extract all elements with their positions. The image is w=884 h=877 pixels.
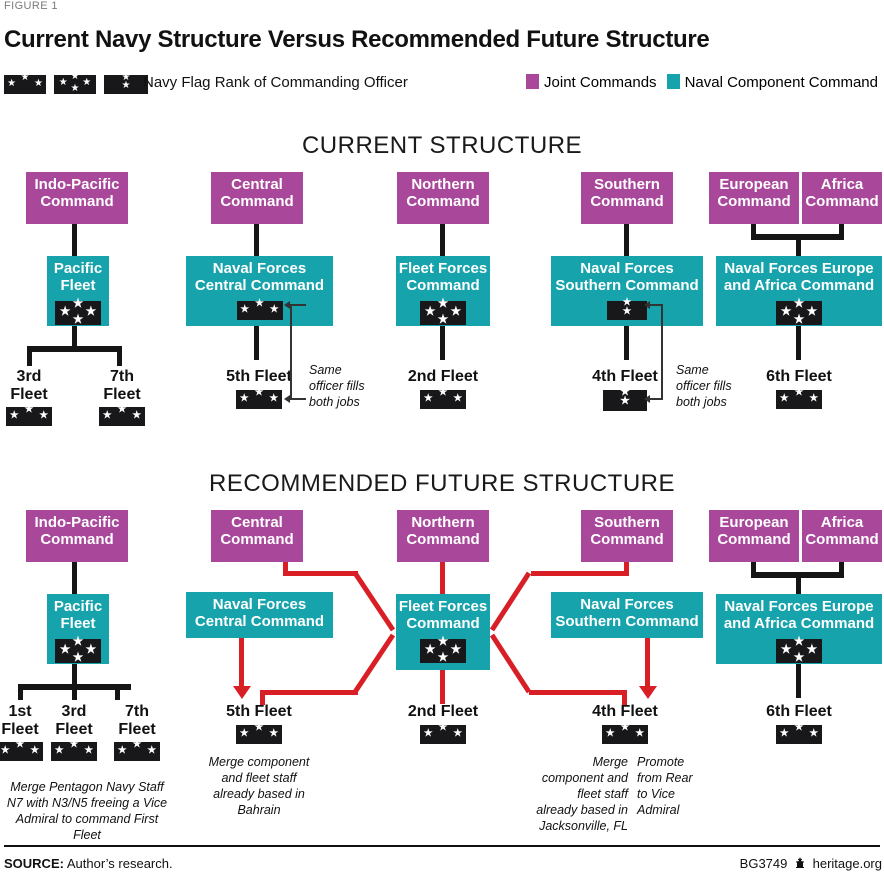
star-glyph: ★ bbox=[240, 305, 250, 315]
box-label-line2: Fleet bbox=[60, 278, 95, 295]
box-rank-badge-4-star: ★★★★ bbox=[776, 301, 822, 325]
star-glyph: ★ bbox=[424, 643, 436, 655]
star-glyph: ★ bbox=[450, 643, 462, 655]
fleet-label: 5th Fleet bbox=[215, 703, 303, 721]
star-glyph: ★ bbox=[793, 297, 805, 309]
star-glyph: ★ bbox=[779, 729, 789, 739]
star-glyph: ★ bbox=[424, 305, 436, 317]
box-label-line2: Command bbox=[406, 278, 479, 295]
future-joint-european[interactable]: EuropeanCommand bbox=[709, 510, 799, 562]
box-label-line2: Command bbox=[40, 194, 113, 211]
star-glyph: ★ bbox=[30, 746, 40, 756]
fleet-label-line2: Fleet bbox=[113, 721, 161, 739]
same-officer-bracket-2-bottom bbox=[648, 398, 663, 400]
current-naval-pacific-fleet[interactable]: PacificFleet★★★★ bbox=[47, 256, 109, 326]
legend: ★★★ ★★★★ ★★ Navy Flag Rank of Commanding… bbox=[4, 74, 880, 98]
star-glyph: ★ bbox=[7, 79, 17, 89]
star-glyph: ★ bbox=[70, 72, 80, 82]
current-structure-heading: CURRENT STRUCTURE bbox=[0, 132, 884, 160]
star-glyph: ★ bbox=[72, 651, 84, 663]
badge-3-star: ★★★ bbox=[4, 75, 46, 94]
fleet-rank-badge-3-star: ★★★ bbox=[99, 407, 145, 426]
current-joint-southern[interactable]: SouthernCommand bbox=[581, 172, 673, 224]
star-glyph: ★ bbox=[438, 388, 448, 398]
box-label-line1: Fleet Forces bbox=[399, 256, 487, 278]
fleet-badge-holder: ★★★ bbox=[399, 390, 487, 414]
star-glyph: ★ bbox=[437, 651, 449, 663]
star-glyph: ★ bbox=[20, 73, 30, 83]
star-glyph: ★ bbox=[72, 297, 84, 309]
star-glyph: ★ bbox=[605, 729, 615, 739]
badge-2-star: ★★ bbox=[104, 75, 148, 94]
star-glyph: ★ bbox=[121, 81, 131, 91]
fleet-label-line2: Fleet bbox=[0, 386, 58, 404]
current-naval-fleet-forces[interactable]: Fleet ForcesCommand★★★★ bbox=[396, 256, 490, 326]
future-naval-southern[interactable]: Naval ForcesSouthern Command bbox=[551, 592, 703, 638]
box-label-line1: Northern bbox=[411, 510, 474, 532]
fleet-badge-holder: ★★★ bbox=[581, 725, 669, 749]
star-glyph: ★ bbox=[85, 305, 97, 317]
future-joint-indo-pacific[interactable]: Indo-PacificCommand bbox=[26, 510, 128, 562]
fleet-rank-badge-3-star: ★★★ bbox=[420, 390, 466, 409]
legend-badge-4-star: ★★★★ bbox=[54, 75, 96, 99]
current-joint-indo-pacific[interactable]: Indo-PacificCommand bbox=[26, 172, 128, 224]
box-rank-badge-4-star: ★★★★ bbox=[420, 301, 466, 325]
connector-line bbox=[115, 684, 120, 700]
star-glyph: ★ bbox=[82, 78, 92, 88]
star-glyph: ★ bbox=[780, 643, 792, 655]
star-glyph: ★ bbox=[779, 394, 789, 404]
star-glyph: ★ bbox=[620, 723, 630, 733]
connector-line bbox=[72, 224, 77, 256]
star-glyph: ★ bbox=[438, 723, 448, 733]
fleet-label-line1: 1st bbox=[0, 703, 44, 721]
box-label-line1: Africa bbox=[821, 172, 864, 194]
star-glyph: ★ bbox=[793, 635, 805, 647]
star-glyph: ★ bbox=[453, 729, 463, 739]
connector-line bbox=[529, 690, 627, 695]
star-glyph: ★ bbox=[33, 79, 43, 89]
box-label-line2: Command bbox=[717, 532, 790, 549]
badge-4-star: ★★★★ bbox=[54, 75, 96, 94]
future-structure-heading: RECOMMENDED FUTURE STRUCTURE bbox=[0, 470, 884, 498]
box-label-line1: Naval Forces bbox=[580, 592, 673, 614]
connector-line bbox=[72, 684, 77, 700]
fleet-rank-badge-2-star: ★★ bbox=[603, 390, 647, 411]
fleet-rank-badge-3-star: ★★★ bbox=[6, 407, 52, 426]
legend-rank-label: Navy Flag Rank of Commanding Officer bbox=[143, 74, 408, 91]
legend-badge-3-star: ★★★ bbox=[4, 75, 46, 99]
connector-line bbox=[72, 562, 77, 594]
star-glyph: ★ bbox=[254, 388, 264, 398]
red-arrow-head-5th bbox=[233, 686, 251, 699]
star-glyph: ★ bbox=[117, 405, 127, 415]
star-glyph: ★ bbox=[622, 307, 632, 317]
box-label-line1: Pacific bbox=[54, 256, 102, 278]
star-glyph: ★ bbox=[239, 729, 249, 739]
box-label-line1: Naval Forces bbox=[213, 256, 306, 278]
fleet-label: 6th Fleet bbox=[755, 703, 843, 721]
source-line: SOURCE: Author’s research. bbox=[4, 856, 173, 871]
arrow-head-down bbox=[284, 395, 290, 403]
red-arrow-head-4th bbox=[639, 686, 657, 699]
star-glyph: ★ bbox=[437, 313, 449, 325]
box-label-line1: Northern bbox=[411, 172, 474, 194]
box-label-line1: European bbox=[719, 510, 788, 532]
connector-line bbox=[440, 326, 445, 360]
connector-line bbox=[531, 571, 629, 576]
fleet-rank-badge-3-star: ★★★ bbox=[602, 725, 648, 744]
box-rank-badge-4-star: ★★★★ bbox=[420, 639, 466, 663]
fleet-rank-badge-3-star: ★★★ bbox=[51, 742, 97, 761]
fleet-badge-holder: ★★★ bbox=[399, 725, 487, 749]
report-code: BG3749 bbox=[740, 856, 788, 871]
future-naval-fleet-forces[interactable]: Fleet ForcesCommand★★★★ bbox=[396, 594, 490, 670]
same-officer-bracket bbox=[290, 304, 292, 400]
star-glyph: ★ bbox=[117, 746, 127, 756]
star-glyph: ★ bbox=[132, 411, 142, 421]
future-joint-southern[interactable]: SouthernCommand bbox=[581, 510, 673, 562]
box-label-line2: Command bbox=[406, 532, 479, 549]
box-rank-badge-2-star: ★★ bbox=[607, 301, 647, 320]
box-label-line1: Naval Forces bbox=[580, 256, 673, 278]
future-joint-northern[interactable]: NorthernCommand bbox=[397, 510, 489, 562]
fleet-label: 2nd Fleet bbox=[399, 368, 487, 386]
fleet-label-line1: 7th bbox=[93, 368, 151, 386]
connector-line bbox=[622, 690, 627, 705]
star-glyph: ★ bbox=[423, 729, 433, 739]
figure-label: FIGURE 1 bbox=[4, 0, 58, 12]
star-glyph: ★ bbox=[794, 388, 804, 398]
connector-line bbox=[796, 326, 801, 360]
source-label: SOURCE: bbox=[4, 856, 64, 871]
star-glyph: ★ bbox=[59, 643, 71, 655]
figure-root: FIGURE 1 Current Navy Structure Versus R… bbox=[0, 0, 884, 877]
connector-line bbox=[624, 326, 629, 360]
star-glyph: ★ bbox=[255, 299, 265, 309]
connector-line bbox=[239, 638, 244, 688]
fleet-rank-badge-3-star: ★★★ bbox=[776, 725, 822, 744]
footer-rule bbox=[4, 845, 880, 847]
connector-line bbox=[27, 346, 32, 366]
current-joint-central[interactable]: CentralCommand bbox=[211, 172, 303, 224]
future-joint-africa[interactable]: AfricaCommand bbox=[802, 510, 882, 562]
star-glyph: ★ bbox=[806, 643, 818, 655]
star-glyph: ★ bbox=[9, 411, 19, 421]
box-label-line1: Central bbox=[231, 510, 283, 532]
box-label-line2: Command bbox=[717, 194, 790, 211]
fleet-label: 6th Fleet bbox=[755, 368, 843, 386]
fleet-badge-holder: ★★★ bbox=[215, 725, 303, 749]
arrow-head-up-2 bbox=[644, 301, 650, 309]
star-glyph: ★ bbox=[72, 313, 84, 325]
star-glyph: ★ bbox=[635, 729, 645, 739]
star-glyph: ★ bbox=[39, 411, 49, 421]
same-officer-bracket-2 bbox=[661, 304, 663, 400]
legend-badge-2-star: ★★ bbox=[104, 75, 148, 99]
connector-line bbox=[260, 690, 265, 705]
fleet-label-line1: 3rd bbox=[0, 368, 58, 386]
fleet-rank-badge-3-star: ★★★ bbox=[236, 725, 282, 744]
fleet-label: 4th Fleet bbox=[581, 368, 669, 386]
box-label-line2: Central Command bbox=[195, 614, 324, 631]
star-glyph: ★ bbox=[102, 411, 112, 421]
fleet-badge-holder: ★★★ bbox=[0, 407, 58, 431]
legend-joint-label: Joint Commands bbox=[544, 74, 657, 91]
connector-line bbox=[796, 664, 801, 698]
future-naval-pacific-fleet[interactable]: PacificFleet★★★★ bbox=[47, 594, 109, 664]
box-label-line1: Naval Forces Europe bbox=[724, 594, 873, 616]
current-joint-european[interactable]: EuropeanCommand bbox=[709, 172, 799, 224]
fleet-badge-holder: ★★★ bbox=[113, 742, 161, 766]
same-officer-bracket-top bbox=[290, 304, 306, 306]
joint-swatch bbox=[526, 74, 539, 89]
box-label-line1: Southern bbox=[594, 172, 660, 194]
star-glyph: ★ bbox=[269, 305, 279, 315]
box-label-line1: European bbox=[719, 172, 788, 194]
legend-naval: Naval Component Command bbox=[667, 74, 878, 91]
star-glyph: ★ bbox=[437, 635, 449, 647]
current-naval-southern[interactable]: Naval ForcesSouthern Command★★ bbox=[551, 256, 703, 326]
connector-line bbox=[117, 346, 122, 366]
star-glyph: ★ bbox=[806, 305, 818, 317]
connector-line bbox=[18, 684, 23, 700]
star-glyph: ★ bbox=[85, 643, 97, 655]
star-glyph: ★ bbox=[269, 729, 279, 739]
fleet-label-line1: 7th bbox=[113, 703, 161, 721]
star-glyph: ★ bbox=[793, 651, 805, 663]
fleet-label-line2: Fleet bbox=[93, 386, 151, 404]
star-glyph: ★ bbox=[0, 746, 10, 756]
naval-swatch bbox=[667, 74, 680, 89]
connector-line bbox=[260, 690, 358, 695]
fleet-label-line2: Fleet bbox=[0, 721, 44, 739]
box-label-line2: Southern Command bbox=[555, 278, 698, 295]
fleet-label-line2: Fleet bbox=[50, 721, 98, 739]
box-label-line1: Southern bbox=[594, 510, 660, 532]
fleet-badge-holder: ★★★ bbox=[755, 725, 843, 749]
box-label-line2: Central Command bbox=[195, 278, 324, 295]
connector-line bbox=[254, 224, 259, 256]
current-joint-africa[interactable]: AfricaCommand bbox=[802, 172, 882, 224]
fleet-badge-holder: ★★★ bbox=[755, 390, 843, 414]
arrow-head-up bbox=[284, 301, 290, 309]
fleet-rank-badge-3-star: ★★★ bbox=[114, 742, 160, 761]
star-glyph: ★ bbox=[809, 729, 819, 739]
star-glyph: ★ bbox=[58, 78, 68, 88]
connector-line bbox=[283, 571, 358, 576]
fleet-badge-holder: ★★★ bbox=[0, 742, 44, 766]
box-label-line2: Command bbox=[406, 616, 479, 633]
legend-categories: Joint Commands Naval Component Command bbox=[526, 74, 878, 91]
star-glyph: ★ bbox=[15, 740, 25, 750]
star-glyph: ★ bbox=[780, 305, 792, 317]
fleet-rank-badge-3-star: ★★★ bbox=[776, 390, 822, 409]
box-label-line2: Fleet bbox=[60, 616, 95, 633]
star-glyph: ★ bbox=[437, 297, 449, 309]
box-label-line2: and Africa Command bbox=[724, 278, 874, 295]
box-label-line2: Command bbox=[590, 532, 663, 549]
box-rank-badge-3-star: ★★★ bbox=[237, 301, 283, 320]
legend-naval-label: Naval Component Command bbox=[685, 74, 878, 91]
current-naval-central[interactable]: Naval ForcesCentral Command★★★ bbox=[186, 256, 333, 326]
fleet-badge-holder: ★★ bbox=[581, 390, 669, 416]
fleet-label: 2nd Fleet bbox=[399, 703, 487, 721]
connector-line bbox=[440, 224, 445, 256]
box-label-line1: Indo-Pacific bbox=[34, 510, 119, 532]
star-glyph: ★ bbox=[453, 394, 463, 404]
legend-joint: Joint Commands bbox=[526, 74, 657, 91]
page-title: Current Navy Structure Versus Recommende… bbox=[4, 26, 709, 54]
star-glyph: ★ bbox=[54, 746, 64, 756]
box-label-line2: Command bbox=[805, 532, 878, 549]
source-text: Author’s research. bbox=[67, 856, 173, 871]
box-label-line2: Southern Command bbox=[555, 614, 698, 631]
box-label-line2: Command bbox=[406, 194, 479, 211]
star-glyph: ★ bbox=[72, 635, 84, 647]
credit-line: BG3749 heritage.org bbox=[740, 856, 882, 871]
box-label-line1: Indo-Pacific bbox=[34, 172, 119, 194]
fleet-badge-holder: ★★★ bbox=[50, 742, 98, 766]
fleet-rank-badge-3-star: ★★★ bbox=[236, 390, 282, 409]
connector-line bbox=[796, 572, 801, 594]
arrow-head-down-2 bbox=[644, 395, 650, 403]
star-glyph: ★ bbox=[239, 394, 249, 404]
box-label-line1: Central bbox=[231, 172, 283, 194]
connector-line bbox=[72, 664, 77, 684]
box-label-line1: Naval Forces Europe bbox=[724, 256, 873, 278]
box-label-line1: Pacific bbox=[54, 594, 102, 616]
star-glyph: ★ bbox=[132, 740, 142, 750]
star-glyph: ★ bbox=[70, 84, 80, 94]
box-label-line1: Fleet Forces bbox=[399, 594, 487, 616]
site-name: heritage.org bbox=[813, 856, 882, 871]
connector-line bbox=[796, 234, 801, 256]
current-joint-northern[interactable]: NorthernCommand bbox=[397, 172, 489, 224]
connector-line bbox=[645, 638, 650, 688]
fleet-rank-badge-3-star: ★★★ bbox=[0, 742, 43, 761]
star-glyph: ★ bbox=[24, 405, 34, 415]
star-glyph: ★ bbox=[254, 723, 264, 733]
box-label-line2: Command bbox=[220, 532, 293, 549]
current-naval-europe-africa[interactable]: Naval Forces Europeand Africa Command★★★… bbox=[716, 256, 882, 326]
star-glyph: ★ bbox=[794, 723, 804, 733]
box-rank-badge-4-star: ★★★★ bbox=[55, 639, 101, 663]
star-glyph: ★ bbox=[269, 394, 279, 404]
box-label-line2: Command bbox=[220, 194, 293, 211]
heritage-logo-icon bbox=[795, 857, 805, 869]
connector-line bbox=[27, 346, 122, 352]
box-label-line2: Command bbox=[590, 194, 663, 211]
fleet-label-line1: 3rd bbox=[50, 703, 98, 721]
same-officer-bracket-2-top bbox=[648, 304, 663, 306]
same-officer-bracket-bottom bbox=[290, 398, 306, 400]
box-label-line2: Command bbox=[40, 532, 113, 549]
connector-line bbox=[440, 670, 445, 704]
star-glyph: ★ bbox=[793, 313, 805, 325]
box-rank-badge-4-star: ★★★★ bbox=[776, 639, 822, 663]
star-glyph: ★ bbox=[69, 740, 79, 750]
star-glyph: ★ bbox=[84, 746, 94, 756]
box-label-line1: Africa bbox=[821, 510, 864, 532]
future-joint-central[interactable]: CentralCommand bbox=[211, 510, 303, 562]
star-glyph: ★ bbox=[423, 394, 433, 404]
star-glyph: ★ bbox=[620, 396, 631, 407]
connector-line bbox=[440, 562, 445, 596]
star-glyph: ★ bbox=[147, 746, 157, 756]
box-label-line1: Naval Forces bbox=[213, 592, 306, 614]
star-glyph: ★ bbox=[59, 305, 71, 317]
star-glyph: ★ bbox=[809, 394, 819, 404]
future-naval-europe-africa[interactable]: Naval Forces Europeand Africa Command★★★… bbox=[716, 594, 882, 664]
connector-line bbox=[254, 326, 259, 360]
legend-badges: ★★★ ★★★★ ★★ bbox=[4, 75, 148, 99]
box-rank-badge-4-star: ★★★★ bbox=[55, 301, 101, 325]
box-label-line2: and Africa Command bbox=[724, 616, 874, 633]
fleet-badge-holder: ★★★ bbox=[93, 407, 151, 431]
box-label-line2: Command bbox=[805, 194, 878, 211]
fleet-rank-badge-3-star: ★★★ bbox=[420, 725, 466, 744]
star-glyph: ★ bbox=[450, 305, 462, 317]
future-naval-central[interactable]: Naval ForcesCentral Command bbox=[186, 592, 333, 638]
connector-line bbox=[624, 224, 629, 256]
fleet-label: 4th Fleet bbox=[581, 703, 669, 721]
